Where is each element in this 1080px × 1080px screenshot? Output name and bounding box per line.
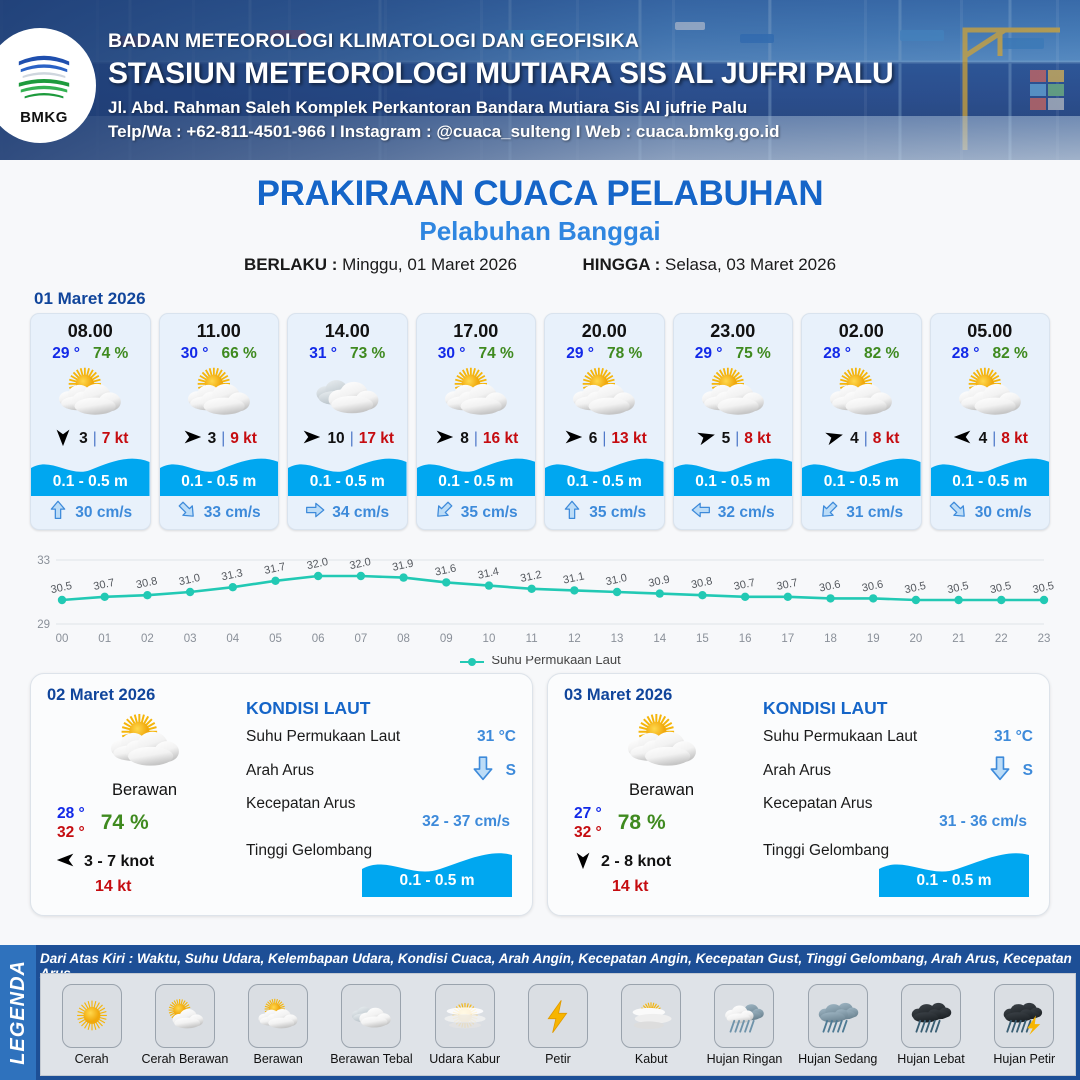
- svg-text:31.4: 31.4: [477, 566, 500, 582]
- svg-text:30.6: 30.6: [818, 578, 841, 594]
- daily-wave-graphic: 0.1 - 0.5 m: [879, 849, 1029, 897]
- hourly-card: 02.00 28 ° 82 %: [801, 313, 922, 530]
- current-direction-arrow-icon: [434, 500, 454, 525]
- daily-date: 02 Maret 2026: [47, 686, 242, 705]
- card-humidity: 74 %: [93, 345, 128, 363]
- card-temperature: 31 °: [309, 345, 337, 363]
- wind-gust: 8 kt: [744, 430, 771, 448]
- station-address: Jl. Abd. Rahman Saleh Komplek Perkantora…: [108, 98, 893, 118]
- card-temperature: 30 °: [181, 345, 209, 363]
- current-speed: 32 cm/s: [718, 504, 775, 522]
- legend-item-label: Cerah Berawan: [141, 1052, 229, 1066]
- daily-temp-max: 32 °: [574, 823, 602, 842]
- legend-item-label: Hujan Sedang: [794, 1052, 882, 1066]
- svg-text:33: 33: [37, 555, 50, 567]
- wind-direction-arrow-icon: [562, 426, 584, 453]
- weather-lightning-icon: [528, 984, 588, 1048]
- current-speed: 35 cm/s: [461, 504, 518, 522]
- wind-separator: |: [221, 430, 225, 448]
- weather-haze-icon: [435, 984, 495, 1048]
- svg-text:11: 11: [526, 633, 538, 645]
- legend-item-label: Hujan Petir: [980, 1052, 1068, 1066]
- current-speed-value: 31 - 36 cm/s: [939, 813, 1027, 831]
- page-header: BMKG BADAN METEOROLOGI KLIMATOLOGI DAN G…: [0, 0, 1080, 160]
- svg-text:30.8: 30.8: [135, 575, 158, 591]
- weather-light-rain-icon: [714, 984, 774, 1048]
- weather-thunderstorm-icon: [994, 984, 1054, 1048]
- card-wave: 0.1 - 0.5 m: [931, 452, 1050, 496]
- svg-text:13: 13: [611, 633, 624, 645]
- hourly-card: 23.00 29 ° 75 %: [673, 313, 794, 530]
- card-temp-humidity: 29 ° 75 %: [674, 345, 793, 363]
- daily-temp-min: 27 °: [574, 804, 602, 823]
- wind-gust: 16 kt: [483, 430, 518, 448]
- wave-height: 0.1 - 0.5 m: [545, 473, 664, 491]
- svg-text:19: 19: [867, 633, 880, 645]
- title-block: PRAKIRAAN CUACA PELABUHAN Pelabuhan Bang…: [0, 160, 1080, 275]
- svg-text:30.9: 30.9: [647, 574, 670, 590]
- daily-temperatures: 27 ° 32 ° 78 %: [564, 804, 759, 843]
- station-name: STASIUN METEOROLOGI MUTIARA SIS AL JUFRI…: [108, 57, 893, 91]
- wind-separator: |: [474, 430, 478, 448]
- svg-text:06: 06: [312, 633, 325, 645]
- page-title: PRAKIRAAN CUACA PELABUHAN: [0, 174, 1080, 214]
- weather-partly-cloudy-icon: [674, 364, 793, 426]
- daily-wind: 3 - 7 knot: [47, 849, 242, 876]
- wave-height: 0.1 - 0.5 m: [417, 473, 536, 491]
- legend-item: Hujan Lebat: [887, 984, 975, 1066]
- card-temperature: 28 °: [823, 345, 851, 363]
- card-time: 08.00: [31, 314, 150, 342]
- daily-temp-min: 28 °: [57, 804, 85, 823]
- current-direction-arrow-icon: [48, 500, 68, 525]
- svg-text:30.8: 30.8: [690, 575, 713, 591]
- current-direction-value: S: [1023, 762, 1033, 780]
- card-temperature: 30 °: [438, 345, 466, 363]
- agency-name: BADAN METEOROLOGI KLIMATOLOGI DAN GEOFIS…: [108, 30, 893, 53]
- weather-partly-cloudy-icon: [931, 364, 1050, 426]
- svg-text:29: 29: [37, 619, 50, 631]
- svg-text:05: 05: [269, 633, 282, 645]
- svg-text:09: 09: [440, 633, 453, 645]
- wind-gust: 9 kt: [230, 430, 257, 448]
- current-direction-arrow-icon: [562, 500, 582, 525]
- chart-legend-marker: [459, 655, 485, 665]
- card-wave: 0.1 - 0.5 m: [160, 452, 279, 496]
- daily-gust: 14 kt: [564, 878, 759, 896]
- wind-gust: 17 kt: [359, 430, 394, 448]
- wave-height: 0.1 - 0.5 m: [931, 473, 1050, 491]
- card-wave: 0.1 - 0.5 m: [802, 452, 921, 496]
- legend-item: Petir: [514, 984, 602, 1066]
- card-wind: 3 | 7 kt: [31, 426, 150, 452]
- sst-value: 31 °C: [477, 728, 516, 746]
- card-temp-humidity: 31 ° 73 %: [288, 345, 407, 363]
- current-direction-arrow-icon: [177, 500, 197, 525]
- validity-range: BERLAKU : Minggu, 01 Maret 2026 HINGGA :…: [0, 255, 1080, 275]
- wind-separator: |: [350, 430, 354, 448]
- wave-height: 0.1 - 0.5 m: [674, 473, 793, 491]
- svg-text:20: 20: [910, 633, 923, 645]
- wind-separator: |: [992, 430, 996, 448]
- hourly-card: 11.00 30 ° 66 %: [159, 313, 280, 530]
- hourly-card: 05.00 28 ° 82 %: [930, 313, 1051, 530]
- card-temp-humidity: 28 ° 82 %: [931, 345, 1050, 363]
- card-temp-humidity: 30 ° 74 %: [417, 345, 536, 363]
- current-direction-arrow-icon: [470, 755, 496, 786]
- legend-item: Cerah Berawan: [141, 984, 229, 1066]
- card-temp-humidity: 28 ° 82 %: [802, 345, 921, 363]
- svg-text:17: 17: [781, 633, 794, 645]
- daily-humidity: 74 %: [101, 811, 149, 835]
- daily-date: 03 Maret 2026: [564, 686, 759, 705]
- daily-left-column: 03 Maret 2026 Berawan 27 °: [564, 686, 759, 903]
- wave-label: Tinggi Gelombang: [763, 842, 889, 860]
- current-direction-arrow-icon: [305, 500, 325, 525]
- port-name: Pelabuhan Banggai: [0, 216, 1080, 247]
- legend-item: Cerah: [48, 984, 136, 1066]
- card-wind: 6 | 13 kt: [545, 426, 664, 452]
- wind-speed: 8: [460, 430, 469, 448]
- wind-speed: 3: [79, 430, 88, 448]
- card-wind: 3 | 9 kt: [160, 426, 279, 452]
- wave-label: Tinggi Gelombang: [246, 842, 372, 860]
- card-wind: 4 | 8 kt: [931, 426, 1050, 452]
- card-wave: 0.1 - 0.5 m: [674, 452, 793, 496]
- card-current: 34 cm/s: [288, 496, 407, 529]
- wind-speed: 4: [850, 430, 859, 448]
- daily-wind: 2 - 8 knot: [564, 849, 759, 876]
- svg-text:31.1: 31.1: [562, 570, 585, 586]
- legend-side-tab: LEGENDA: [0, 945, 36, 1080]
- wind-direction-arrow-icon: [952, 426, 974, 453]
- svg-text:00: 00: [56, 633, 69, 645]
- wind-speed: 5: [722, 430, 731, 448]
- legend-item: Hujan Ringan: [700, 984, 788, 1066]
- current-speed: 34 cm/s: [332, 504, 389, 522]
- svg-text:15: 15: [696, 633, 709, 645]
- sst-label: Suhu Permukaan Laut: [763, 728, 917, 746]
- current-direction-arrow-icon: [819, 500, 839, 525]
- hourly-date: 01 Maret 2026: [34, 289, 1080, 309]
- wind-direction-arrow-icon: [300, 426, 322, 453]
- daily-sea-conditions: KONDISI LAUT Suhu Permukaan Laut 31 °C A…: [242, 686, 516, 903]
- wind-direction-arrow-icon: [55, 849, 77, 876]
- card-temperature: 29 °: [566, 345, 594, 363]
- svg-text:03: 03: [184, 633, 197, 645]
- weather-fog-icon: [621, 984, 681, 1048]
- wave-height: 0.1 - 0.5 m: [288, 473, 407, 491]
- sst-label: Suhu Permukaan Laut: [246, 728, 400, 746]
- card-humidity: 82 %: [992, 345, 1027, 363]
- current-speed: 33 cm/s: [204, 504, 261, 522]
- wind-separator: |: [864, 430, 868, 448]
- card-time: 14.00: [288, 314, 407, 342]
- legend-item: Hujan Petir: [980, 984, 1068, 1066]
- current-speed: 31 cm/s: [846, 504, 903, 522]
- wave-height: 0.1 - 0.5 m: [31, 473, 150, 491]
- card-wind: 5 | 8 kt: [674, 426, 793, 452]
- svg-text:07: 07: [354, 633, 367, 645]
- svg-text:14: 14: [653, 633, 666, 645]
- daily-left-column: 02 Maret 2026 Berawan 28 °: [47, 686, 242, 903]
- wind-gust: 7 kt: [102, 430, 129, 448]
- hourly-card: 08.00 29 ° 74 %: [30, 313, 151, 530]
- card-wave: 0.1 - 0.5 m: [288, 452, 407, 496]
- weather-heavy-rain-icon: [901, 984, 961, 1048]
- card-temp-humidity: 29 ° 78 %: [545, 345, 664, 363]
- card-humidity: 73 %: [350, 345, 385, 363]
- current-direction-label: Arah Arus: [763, 762, 831, 780]
- station-contact: Telp/Wa : +62-811-4501-966 I Instagram :…: [108, 122, 893, 142]
- card-humidity: 75 %: [735, 345, 770, 363]
- card-wave: 0.1 - 0.5 m: [31, 452, 150, 496]
- bmkg-logo-text: BMKG: [20, 109, 68, 126]
- weather-partly-cloudy-icon: [160, 364, 279, 426]
- current-direction-label: Arah Arus: [246, 762, 314, 780]
- card-current: 35 cm/s: [417, 496, 536, 529]
- wind-direction-arrow-icon: [572, 849, 594, 876]
- svg-text:30.5: 30.5: [1032, 580, 1055, 596]
- current-direction-row: Arah Arus S: [246, 755, 516, 786]
- weather-partly-cloudy-icon: [417, 364, 536, 426]
- svg-text:30.6: 30.6: [861, 578, 884, 594]
- wind-speed: 6: [589, 430, 598, 448]
- weather-partly-cloudy-icon: [248, 984, 308, 1048]
- sea-conditions-title: KONDISI LAUT: [246, 698, 516, 719]
- card-humidity: 66 %: [221, 345, 256, 363]
- card-time: 17.00: [417, 314, 536, 342]
- svg-text:30.5: 30.5: [989, 580, 1012, 596]
- current-speed: 30 cm/s: [75, 504, 132, 522]
- svg-text:01: 01: [98, 633, 111, 645]
- svg-text:18: 18: [824, 633, 837, 645]
- current-speed-label: Kecepatan Arus: [246, 795, 355, 813]
- daily-condition: Berawan: [47, 781, 242, 800]
- wind-gust: 8 kt: [873, 430, 900, 448]
- card-wind: 10 | 17 kt: [288, 426, 407, 452]
- card-humidity: 78 %: [607, 345, 642, 363]
- legend-item-label: Berawan Tebal: [327, 1052, 415, 1066]
- daily-forecast-panel: 03 Maret 2026 Berawan 27 °: [547, 673, 1050, 916]
- svg-text:30.5: 30.5: [50, 580, 73, 596]
- wind-speed: 4: [979, 430, 988, 448]
- sst-chart-svg: 293330.530.730.831.031.331.732.032.031.9…: [20, 538, 1060, 650]
- legend-icon-panel: Cerah Cerah Berawan: [40, 973, 1076, 1076]
- weather-cloudy-icon: [288, 364, 407, 426]
- card-time: 02.00: [802, 314, 921, 342]
- wave-value: 0.1 - 0.5 m: [362, 872, 512, 890]
- wind-direction-arrow-icon: [823, 426, 845, 453]
- svg-text:32.0: 32.0: [306, 556, 329, 572]
- valid-from-label: BERLAKU :: [244, 255, 338, 274]
- svg-text:04: 04: [226, 633, 239, 645]
- daily-humidity: 78 %: [618, 811, 666, 835]
- daily-temp-max: 32 °: [57, 823, 85, 842]
- card-current: 35 cm/s: [545, 496, 664, 529]
- legend-item: Berawan Tebal: [327, 984, 415, 1066]
- current-speed: 30 cm/s: [975, 504, 1032, 522]
- wind-separator: |: [735, 430, 739, 448]
- valid-until-value: Selasa, 03 Maret 2026: [665, 255, 836, 274]
- svg-text:32.0: 32.0: [349, 556, 372, 572]
- daily-wind-range: 3 - 7 knot: [84, 853, 154, 871]
- card-wind: 4 | 8 kt: [802, 426, 921, 452]
- svg-text:30.7: 30.7: [775, 577, 798, 593]
- bmkg-logo-mark: [13, 46, 75, 108]
- legend-item: Hujan Sedang: [794, 984, 882, 1066]
- daily-gust: 14 kt: [47, 878, 242, 896]
- weather-partly-cloudy-icon: [802, 364, 921, 426]
- legend-footer: LEGENDA Dari Atas Kiri : Waktu, Suhu Uda…: [0, 945, 1080, 1080]
- card-temperature: 29 °: [52, 345, 80, 363]
- card-time: 23.00: [674, 314, 793, 342]
- legend-item: Udara Kabur: [421, 984, 509, 1066]
- weather-sun-cloud-icon: [155, 984, 215, 1048]
- sea-conditions-title: KONDISI LAUT: [763, 698, 1033, 719]
- wind-gust: 13 kt: [611, 430, 646, 448]
- svg-text:31.0: 31.0: [178, 572, 201, 588]
- card-wave: 0.1 - 0.5 m: [417, 452, 536, 496]
- svg-text:21: 21: [952, 633, 965, 645]
- legend-side-label: LEGENDA: [7, 960, 30, 1065]
- weather-partly-cloudy-icon: [31, 364, 150, 426]
- card-time: 05.00: [931, 314, 1050, 342]
- daily-sea-conditions: KONDISI LAUT Suhu Permukaan Laut 31 °C A…: [759, 686, 1033, 903]
- legend-item: Kabut: [607, 984, 695, 1066]
- current-speed-row: Kecepatan Arus: [246, 795, 516, 813]
- legend-item-label: Berawan: [234, 1052, 322, 1066]
- wave-value: 0.1 - 0.5 m: [879, 872, 1029, 890]
- weather-moderate-rain-icon: [808, 984, 868, 1048]
- card-temp-humidity: 30 ° 66 %: [160, 345, 279, 363]
- svg-text:08: 08: [397, 633, 410, 645]
- legend-item-label: Cerah: [48, 1052, 136, 1066]
- svg-text:30.7: 30.7: [92, 577, 115, 593]
- svg-text:16: 16: [739, 633, 752, 645]
- header-text-block: BADAN METEOROLOGI KLIMATOLOGI DAN GEOFIS…: [108, 30, 893, 142]
- svg-text:10: 10: [483, 633, 496, 645]
- card-temp-humidity: 29 ° 74 %: [31, 345, 150, 363]
- card-temperature: 29 °: [695, 345, 723, 363]
- wave-height: 0.1 - 0.5 m: [160, 473, 279, 491]
- card-current: 30 cm/s: [31, 496, 150, 529]
- sst-row: Suhu Permukaan Laut 31 °C: [763, 728, 1033, 746]
- card-time: 20.00: [545, 314, 664, 342]
- current-direction-arrow-icon: [948, 500, 968, 525]
- current-direction-value: S: [506, 762, 516, 780]
- legend-item-label: Hujan Ringan: [700, 1052, 788, 1066]
- wind-direction-arrow-icon: [181, 426, 203, 453]
- hourly-card: 20.00 29 ° 78 %: [544, 313, 665, 530]
- daily-forecast-panel: 02 Maret 2026 Berawan 28 °: [30, 673, 533, 916]
- wind-speed: 10: [327, 430, 344, 448]
- sst-chart: 293330.530.730.831.031.331.732.032.031.9…: [20, 538, 1060, 656]
- wind-separator: |: [602, 430, 606, 448]
- card-current: 31 cm/s: [802, 496, 921, 529]
- daily-condition: Berawan: [564, 781, 759, 800]
- wind-separator: |: [93, 430, 97, 448]
- wind-direction-arrow-icon: [695, 426, 717, 453]
- current-direction-row: Arah Arus S: [763, 755, 1033, 786]
- current-speed-value: 32 - 37 cm/s: [422, 813, 510, 831]
- svg-text:31.0: 31.0: [605, 572, 628, 588]
- wind-direction-arrow-icon: [52, 426, 74, 453]
- valid-until-label: HINGGA :: [582, 255, 660, 274]
- svg-text:31.3: 31.3: [220, 567, 243, 583]
- svg-text:22: 22: [995, 633, 1008, 645]
- svg-text:30.5: 30.5: [904, 580, 927, 596]
- svg-text:30.7: 30.7: [733, 577, 756, 593]
- current-direction-arrow-icon: [987, 755, 1013, 786]
- svg-text:30.5: 30.5: [946, 580, 969, 596]
- sst-value: 31 °C: [994, 728, 1033, 746]
- svg-text:02: 02: [141, 633, 154, 645]
- legend-item: Berawan: [234, 984, 322, 1066]
- wind-gust: 8 kt: [1001, 430, 1028, 448]
- card-wind: 8 | 16 kt: [417, 426, 536, 452]
- svg-text:23: 23: [1038, 633, 1051, 645]
- current-speed-row: Kecepatan Arus: [763, 795, 1033, 813]
- card-current: 32 cm/s: [674, 496, 793, 529]
- daily-wind-range: 2 - 8 knot: [601, 853, 671, 871]
- current-direction-arrow-icon: [691, 500, 711, 525]
- weather-partly-cloudy-icon: [564, 709, 759, 779]
- wind-speed: 3: [208, 430, 217, 448]
- legend-item-label: Petir: [514, 1052, 602, 1066]
- daily-panel-list: 02 Maret 2026 Berawan 28 °: [0, 667, 1080, 916]
- current-speed: 35 cm/s: [589, 504, 646, 522]
- hourly-card: 14.00 31 ° 73 %: [287, 313, 408, 530]
- card-time: 11.00: [160, 314, 279, 342]
- weather-partly-cloudy-icon: [545, 364, 664, 426]
- card-humidity: 74 %: [478, 345, 513, 363]
- card-current: 30 cm/s: [931, 496, 1050, 529]
- legend-item-label: Udara Kabur: [421, 1052, 509, 1066]
- weather-cloudy-icon: [341, 984, 401, 1048]
- valid-from-value: Minggu, 01 Maret 2026: [342, 255, 517, 274]
- weather-sunny-icon: [62, 984, 122, 1048]
- hourly-card: 17.00 30 ° 74 %: [416, 313, 537, 530]
- hourly-card-list: 08.00 29 ° 74 %: [0, 313, 1080, 530]
- card-current: 33 cm/s: [160, 496, 279, 529]
- wave-height: 0.1 - 0.5 m: [802, 473, 921, 491]
- wind-direction-arrow-icon: [433, 426, 455, 453]
- legend-item-label: Hujan Lebat: [887, 1052, 975, 1066]
- card-temperature: 28 °: [952, 345, 980, 363]
- daily-wave-graphic: 0.1 - 0.5 m: [362, 849, 512, 897]
- svg-text:31.7: 31.7: [263, 561, 286, 577]
- weather-partly-cloudy-icon: [47, 709, 242, 779]
- card-humidity: 82 %: [864, 345, 899, 363]
- current-speed-label: Kecepatan Arus: [763, 795, 872, 813]
- sst-row: Suhu Permukaan Laut 31 °C: [246, 728, 516, 746]
- daily-temperatures: 28 ° 32 ° 74 %: [47, 804, 242, 843]
- card-wave: 0.1 - 0.5 m: [545, 452, 664, 496]
- svg-text:31.6: 31.6: [434, 562, 457, 578]
- svg-text:12: 12: [568, 633, 581, 645]
- legend-item-label: Kabut: [607, 1052, 695, 1066]
- svg-text:31.2: 31.2: [519, 569, 542, 585]
